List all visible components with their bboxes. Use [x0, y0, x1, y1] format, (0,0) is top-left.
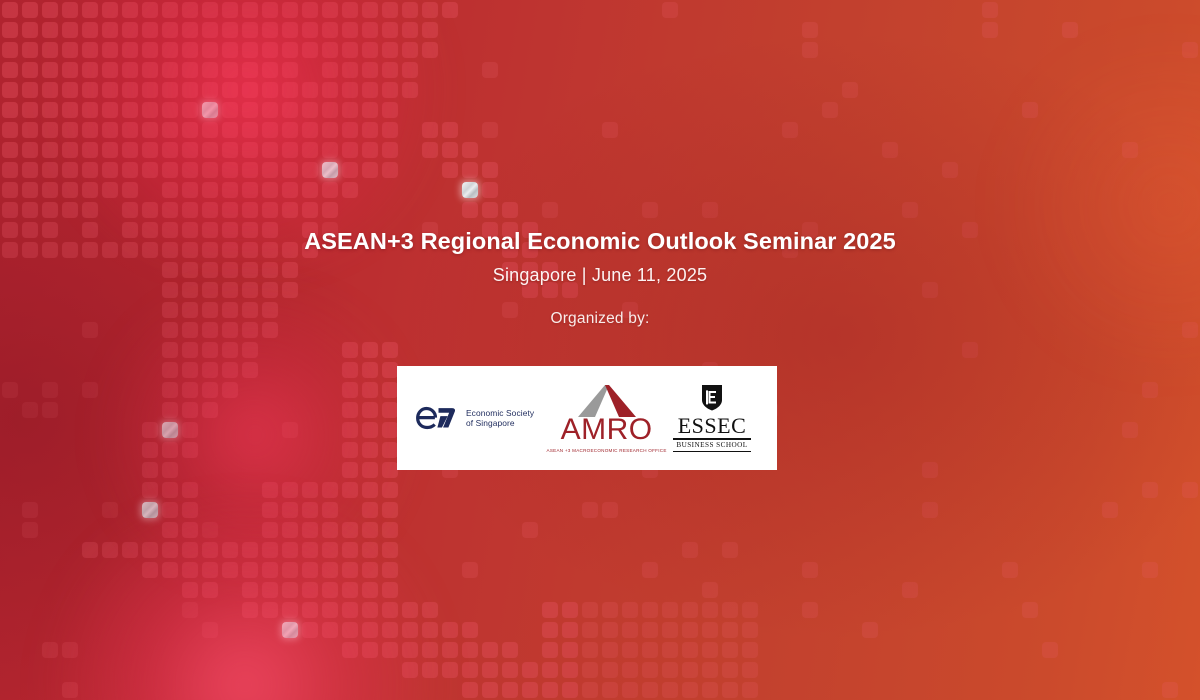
essec-rule-bottom [673, 451, 751, 453]
slide-content: ASEAN+3 Regional Economic Outlook Semina… [0, 0, 1200, 700]
seminar-slide: ASEAN+3 Regional Economic Outlook Semina… [0, 0, 1200, 700]
ess-wordmark: Economic Society of Singapore [466, 408, 534, 429]
page-title: ASEAN+3 Regional Economic Outlook Semina… [0, 228, 1200, 255]
amro-wordmark: AMRO [561, 415, 653, 445]
ess-monogram-icon [415, 400, 459, 436]
essec-crest-icon [701, 384, 723, 411]
organized-by-label: Organized by: [0, 310, 1200, 328]
ess-line-2: of Singapore [466, 418, 534, 429]
logo-economic-society-of-singapore: Economic Society of Singapore [415, 400, 534, 436]
organizer-logo-bar: Economic Society of Singapore AMRO ASEAN… [397, 366, 777, 470]
logo-amro: AMRO ASEAN +3 MACROECONOMIC RESEARCH OFF… [547, 385, 667, 453]
essec-subline: BUSINESS SCHOOL [676, 441, 747, 449]
amro-tagline: ASEAN +3 MACROECONOMIC RESEARCH OFFICE [547, 448, 667, 453]
essec-rule-top [673, 438, 751, 440]
event-location-date: Singapore | June 11, 2025 [0, 265, 1200, 286]
logo-essec-business-school: ESSEC BUSINESS SCHOOL [673, 384, 751, 452]
ess-line-1: Economic Society [466, 408, 534, 419]
essec-wordmark: ESSEC [678, 414, 747, 437]
